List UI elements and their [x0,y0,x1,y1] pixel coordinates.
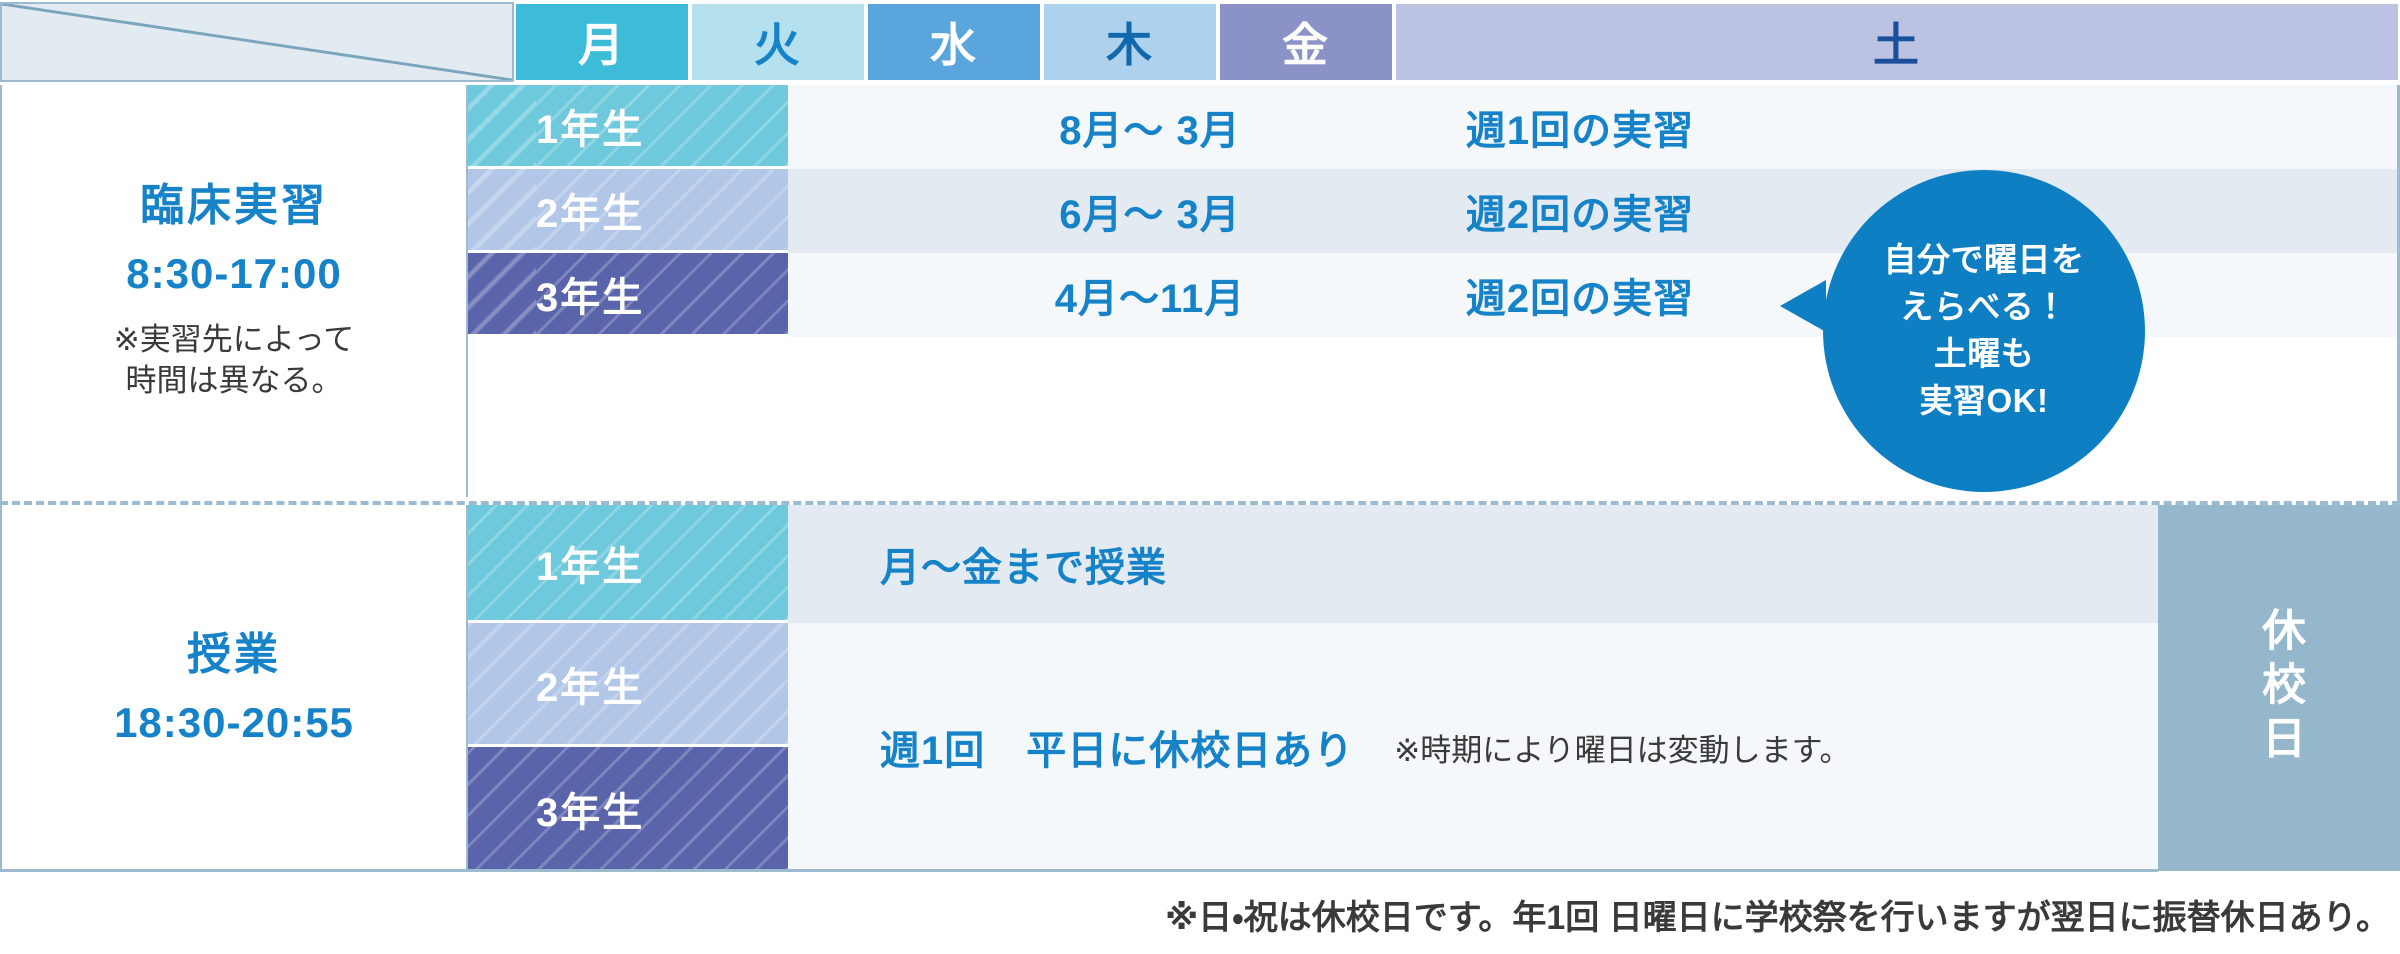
category-clinical-practice-title: 臨床実習 [140,180,328,233]
practice-row-3-frequency: 週2回の実習 [1370,253,1790,337]
day-header-sat-label: 土 [1873,9,1921,75]
grade-class-year-2: 2年生 [468,623,788,747]
practice-row-3-frequency-text: 週2回の実習 [1466,266,1694,324]
practice-row-3-period: 4月〜11月 [940,253,1360,337]
grade-practice-year-3-label: 3年生 [536,265,644,323]
day-header-fri-label: 金 [1282,9,1330,75]
category-class-title: 授業 [187,629,281,682]
practice-row-2-period-text: 6月〜 3月 [1059,182,1241,240]
callout-line-4: 実習OK! [1884,378,2085,425]
day-header-sat: 土 [1394,2,2400,82]
day-header-mon: 月 [514,2,690,82]
callout-line-2: えらべる！ [1884,284,2085,331]
holiday-column: 休校日 [2158,505,2400,871]
section-divider [0,501,2400,505]
practice-row-1-frequency: 週1回の実習 [1370,85,1790,169]
class-row-2-text: 週1回 平日に休校日あり ※時期により曜日は変動します。 [880,623,2158,871]
category-clinical-practice-note: ※実習先によって 時間は異なる。 [114,320,355,402]
schedule-infographic: 月 火 水 木 金 土 臨床実習 8:30-17:00 ※実習先によって 時間は… [0,0,2400,954]
grade-practice-year-1: 1年生 [468,85,788,169]
grade-practice-year-3: 3年生 [468,253,788,337]
class-row-2-label: 週1回 平日に休校日あり [880,718,1354,776]
practice-row-1-period-text: 8月〜 3月 [1059,98,1241,156]
practice-row-1-period: 8月〜 3月 [940,85,1360,169]
category-clinical-practice: 臨床実習 8:30-17:00 ※実習先によって 時間は異なる。 [0,85,468,497]
grade-practice-year-1-label: 1年生 [536,97,644,155]
day-header-wed-label: 水 [930,9,978,75]
class-row-1-label: 月〜金まで授業 [880,535,1167,593]
footer-note-text: ※日・祝は休校日です。年1回 日曜日に学校祭を行いますが翌日に振替休日あり。 [1165,899,2390,937]
callout-line-3: 土曜も [1884,331,2085,378]
class-row-1-text: 月〜金まで授業 [880,505,1880,623]
frame-left [0,85,2,871]
grade-class-year-3: 3年生 [468,747,788,871]
category-clinical-practice-note-line2: 時間は異なる。 [114,361,355,402]
practice-row-1-frequency-text: 週1回の実習 [1466,98,1694,156]
callout-tail-icon [1780,280,1826,332]
day-header-fri: 金 [1218,2,1394,82]
category-clinical-practice-note-line1: ※実習先によって [114,320,355,361]
holiday-column-label: 休校日 [2247,607,2311,769]
category-class-time: 18:30-20:55 [114,699,354,747]
category-class: 授業 18:30-20:55 [0,505,468,871]
diagonal-divider-icon [2,4,512,80]
practice-row-2-period: 6月〜 3月 [940,169,1360,253]
callout-text: 自分で曜日を えらべる！ 土曜も 実習OK! [1884,237,2085,424]
day-header-thu: 木 [1042,2,1218,82]
frame-bottom [0,869,2158,872]
category-clinical-practice-time: 8:30-17:00 [126,250,341,298]
day-header-mon-label: 月 [578,9,626,75]
callout-bubble: 自分で曜日を えらべる！ 土曜も 実習OK! [1823,170,2145,492]
day-header-tue-label: 火 [754,9,802,75]
day-header-tue: 火 [690,2,866,82]
day-header-wed: 水 [866,2,1042,82]
callout-line-1: 自分で曜日を [1884,237,2085,284]
grade-class-year-1-label: 1年生 [536,534,644,592]
grade-class-year-2-label: 2年生 [536,655,644,713]
practice-row-2-frequency: 週2回の実習 [1370,169,1790,253]
grade-practice-year-2: 2年生 [468,169,788,253]
grade-class-year-1: 1年生 [468,505,788,623]
practice-row-2-frequency-text: 週2回の実習 [1466,182,1694,240]
day-header-thu-label: 木 [1106,9,1154,75]
practice-row-3-period-text: 4月〜11月 [1055,266,1246,324]
class-row-2-note: ※時期により曜日は変動します。 [1394,725,1850,770]
footer-note: ※日・祝は休校日です。年1回 日曜日に学校祭を行いますが翌日に振替休日あり。 [0,890,2390,939]
grade-practice-year-2-label: 2年生 [536,181,644,239]
table-corner-cell [0,2,514,82]
grade-class-year-3-label: 3年生 [536,780,644,838]
